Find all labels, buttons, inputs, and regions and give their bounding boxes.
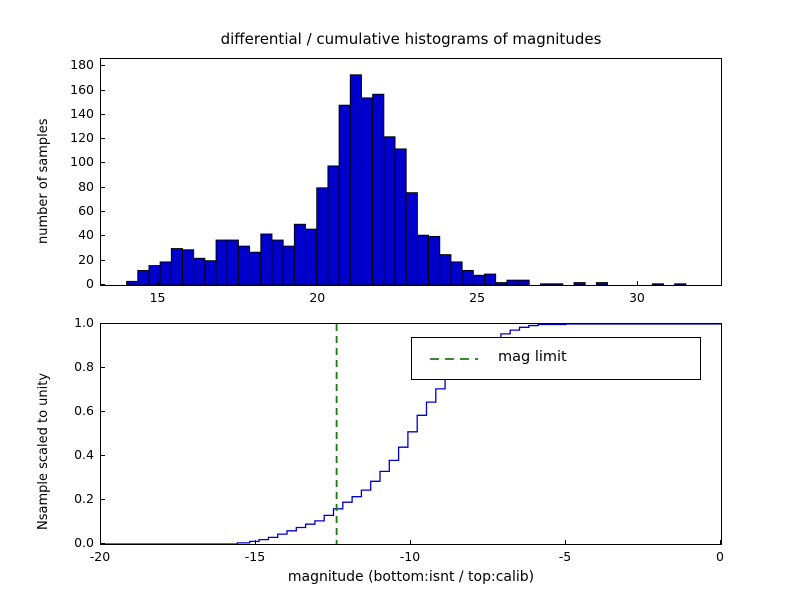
bottom-x-tick-label: 0 [700,549,740,564]
bottom-y-tick-label: 0.6 [56,403,94,418]
top-x-tick-label: 25 [461,290,493,305]
top-x-tickmark [317,281,318,285]
bottom-x-tickmark [565,540,566,544]
top-x-tick-label: 15 [142,290,174,305]
bottom-x-tick-label: -20 [80,549,120,564]
bottom-x-tickmark [255,540,256,544]
bottom-y-tickmark [101,367,105,368]
bottom-y-tickmark [101,543,105,544]
x-axis-label: magnitude (bottom:isnt / top:calib) [100,569,722,585]
bottom-y-tickmark [101,499,105,500]
top-y-tick-label: 120 [56,130,94,145]
top-y-tickmark [101,90,105,91]
top-y-tick-label: 160 [56,82,94,97]
top-x-tick-label: 30 [621,290,653,305]
top-x-tick-label: 20 [301,290,333,305]
top-y-tick-label: 0 [56,276,94,291]
top-y-axis-label: number of samples [36,118,51,244]
top-y-tickmark [101,235,105,236]
legend-dash-icon [428,349,480,369]
legend: mag limit [411,337,701,380]
top-y-tickmark [101,162,105,163]
bottom-x-tick-label: -10 [390,549,430,564]
bottom-x-tick-label: -5 [545,549,585,564]
bottom-x-tick-label: -15 [235,549,275,564]
top-x-tickmark [477,281,478,285]
bottom-y-tick-label: 0.2 [56,491,94,506]
bottom-cumulative-axes: mag limit [100,323,722,545]
legend-label-mag-limit: mag limit [498,349,567,365]
top-y-tickmark [101,114,105,115]
figure-canvas: differential / cumulative histograms of … [0,0,800,600]
top-histogram-axes [100,58,722,286]
top-y-tick-label: 140 [56,106,94,121]
top-y-tickmark [101,211,105,212]
bottom-y-tickmark [101,323,105,324]
top-y-tick-label: 80 [56,179,94,194]
chart-title: differential / cumulative histograms of … [100,30,722,48]
top-y-tick-label: 100 [56,154,94,169]
top-y-tickmark [101,138,105,139]
top-histogram-plot [101,59,721,285]
bottom-y-tick-label: 0.4 [56,447,94,462]
top-y-tickmark [101,260,105,261]
bottom-x-tickmark [720,540,721,544]
bottom-y-tickmark [101,455,105,456]
top-y-tick-label: 40 [56,227,94,242]
bottom-x-tickmark [410,540,411,544]
top-y-tick-label: 60 [56,203,94,218]
top-y-tick-label: 20 [56,252,94,267]
top-y-tickmark [101,284,105,285]
top-y-tickmark [101,187,105,188]
bottom-y-axis-label: Nsample scaled to unity [36,373,51,530]
top-x-tickmark [158,281,159,285]
top-y-tickmark [101,65,105,66]
bottom-y-tick-label: 0.8 [56,359,94,374]
bottom-y-tickmark [101,411,105,412]
bottom-y-tick-label: 0.0 [56,535,94,550]
bottom-y-tick-label: 1.0 [56,315,94,330]
top-x-tickmark [637,281,638,285]
top-y-tick-label: 180 [56,57,94,72]
